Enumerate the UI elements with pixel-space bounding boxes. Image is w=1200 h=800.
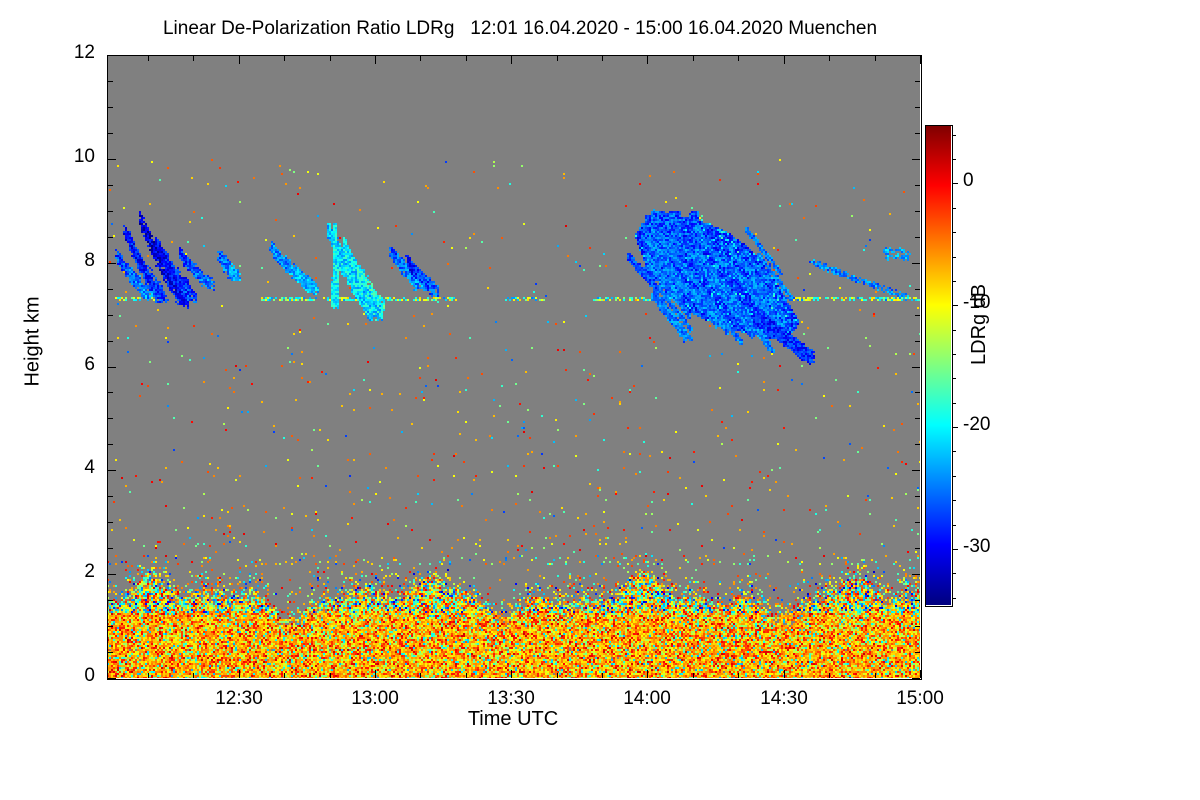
y-tick-major [108, 574, 116, 575]
y-tick-minor [108, 522, 113, 523]
y-tick-minor-right [915, 496, 920, 497]
x-tick-major-top [784, 56, 785, 64]
colorbar-tick-minor [952, 573, 956, 574]
y-tick-minor [108, 81, 113, 82]
y-tick-minor-right [915, 418, 920, 419]
x-tick-label: 13:00 [325, 688, 425, 710]
x-tick-minor-top [193, 56, 194, 61]
colorbar-tick-minor [952, 451, 956, 452]
x-tick-minor [738, 673, 739, 678]
colorbar-tick-minor [952, 330, 956, 331]
x-tick-major-top [920, 56, 921, 64]
colorbar-tick-minor [952, 135, 956, 136]
x-tick-major [375, 670, 376, 678]
y-tick-label: 0 [35, 665, 95, 687]
y-tick-minor-right [915, 341, 920, 342]
y-tick-major-right [912, 470, 920, 471]
y-tick-minor-right [915, 600, 920, 601]
colorbar-gradient [925, 125, 951, 605]
colorbar-tick-minor [952, 500, 956, 501]
y-tick-label: 10 [35, 146, 95, 168]
y-tick-minor [108, 107, 113, 108]
x-tick-minor-top [557, 56, 558, 61]
x-tick-minor [330, 673, 331, 678]
colorbar-tick-minor [952, 476, 956, 477]
x-tick-minor-top [602, 56, 603, 61]
x-tick-minor [284, 673, 285, 678]
x-tick-minor [602, 673, 603, 678]
y-tick-major-right [912, 367, 920, 368]
x-axis-label: Time UTC [413, 708, 613, 731]
y-tick-minor [108, 185, 113, 186]
x-tick-minor-top [330, 56, 331, 61]
y-tick-minor [108, 211, 113, 212]
y-tick-minor-right [915, 626, 920, 627]
colorbar-tick-minor [952, 378, 956, 379]
y-tick-minor [108, 626, 113, 627]
y-tick-label: 2 [35, 561, 95, 583]
colorbar-tick-minor [952, 525, 956, 526]
y-tick-minor [108, 548, 113, 549]
y-tick-major-right [912, 55, 920, 56]
y-tick-minor-right [915, 107, 920, 108]
y-tick-minor-right [915, 133, 920, 134]
y-tick-minor-right [915, 548, 920, 549]
x-tick-minor [193, 673, 194, 678]
y-tick-minor-right [915, 315, 920, 316]
y-tick-label: 8 [35, 250, 95, 272]
page-title: Linear De-Polarization Ratio LDRg 12:01 … [0, 18, 1040, 40]
x-tick-minor [148, 673, 149, 678]
x-tick-major-top [375, 56, 376, 64]
x-tick-major [511, 670, 512, 678]
x-tick-minor-top [829, 56, 830, 61]
y-tick-minor-right [915, 289, 920, 290]
y-tick-major-right [912, 574, 920, 575]
colorbar-title: LDRg dB [968, 284, 991, 365]
x-tick-label: 15:00 [870, 688, 970, 710]
colorbar-tick-label: -20 [963, 414, 990, 436]
x-tick-label: 13:30 [461, 688, 561, 710]
y-tick-minor-right [915, 237, 920, 238]
y-tick-minor [108, 600, 113, 601]
y-tick-minor-right [915, 522, 920, 523]
colorbar-tick-minor [952, 281, 956, 282]
y-tick-minor-right [915, 652, 920, 653]
y-tick-minor [108, 496, 113, 497]
y-tick-minor [108, 237, 113, 238]
x-tick-minor [693, 673, 694, 678]
y-tick-major [108, 55, 116, 56]
colorbar-tick-label: 0 [963, 170, 974, 192]
y-tick-major [108, 159, 116, 160]
y-tick-major [108, 367, 116, 368]
colorbar-tick-minor [952, 232, 956, 233]
y-tick-minor-right [915, 81, 920, 82]
x-tick-major [784, 670, 785, 678]
colorbar-tick-minor [952, 208, 956, 209]
x-tick-minor-top [148, 56, 149, 61]
colorbar-tick-minor [952, 598, 956, 599]
y-tick-minor [108, 315, 113, 316]
y-tick-minor [108, 652, 113, 653]
y-tick-minor [108, 444, 113, 445]
y-tick-minor [108, 392, 113, 393]
colorbar[interactable] [925, 125, 951, 605]
heatmap-plot-area[interactable] [107, 55, 920, 678]
y-tick-minor-right [915, 392, 920, 393]
x-tick-major-top [511, 56, 512, 64]
colorbar-tick-minor [952, 403, 956, 404]
x-tick-minor [557, 673, 558, 678]
colorbar-tick-minor [952, 257, 956, 258]
colorbar-tick-major [952, 305, 958, 306]
y-tick-minor-right [915, 444, 920, 445]
x-tick-minor [466, 673, 467, 678]
x-tick-major-top [239, 56, 240, 64]
x-tick-minor [875, 673, 876, 678]
x-tick-label: 12:30 [189, 688, 289, 710]
y-tick-major-right [912, 678, 920, 679]
colorbar-tick-major [952, 549, 958, 550]
x-tick-label: 14:30 [734, 688, 834, 710]
figure-canvas: Linear De-Polarization Ratio LDRg 12:01 … [0, 0, 1200, 800]
x-tick-major [239, 670, 240, 678]
y-tick-minor [108, 341, 113, 342]
y-tick-major [108, 263, 116, 264]
colorbar-tick-label: -30 [963, 536, 990, 558]
x-tick-minor-top [284, 56, 285, 61]
y-tick-major [108, 470, 116, 471]
colorbar-tick-minor [952, 354, 956, 355]
y-tick-label: 4 [35, 457, 95, 479]
x-tick-minor-top [466, 56, 467, 61]
x-tick-label: 14:00 [597, 688, 697, 710]
y-tick-minor [108, 418, 113, 419]
y-tick-major-right [912, 263, 920, 264]
y-tick-minor [108, 133, 113, 134]
y-tick-label: 12 [35, 42, 95, 64]
x-tick-minor-top [738, 56, 739, 61]
x-tick-major-top [647, 56, 648, 64]
heatmap-image [107, 55, 920, 678]
y-axis-label: Height km [22, 296, 45, 386]
x-tick-minor-top [875, 56, 876, 61]
x-tick-minor [420, 673, 421, 678]
x-tick-major [920, 670, 921, 678]
colorbar-tick-major [952, 183, 958, 184]
x-tick-minor-top [693, 56, 694, 61]
y-tick-minor-right [915, 211, 920, 212]
y-tick-major-right [912, 159, 920, 160]
x-tick-minor-top [420, 56, 421, 61]
colorbar-tick-major [952, 427, 958, 428]
x-tick-major [647, 670, 648, 678]
y-tick-minor-right [915, 185, 920, 186]
y-tick-minor [108, 289, 113, 290]
y-tick-major [108, 678, 116, 679]
x-tick-minor [829, 673, 830, 678]
colorbar-tick-minor [952, 159, 956, 160]
